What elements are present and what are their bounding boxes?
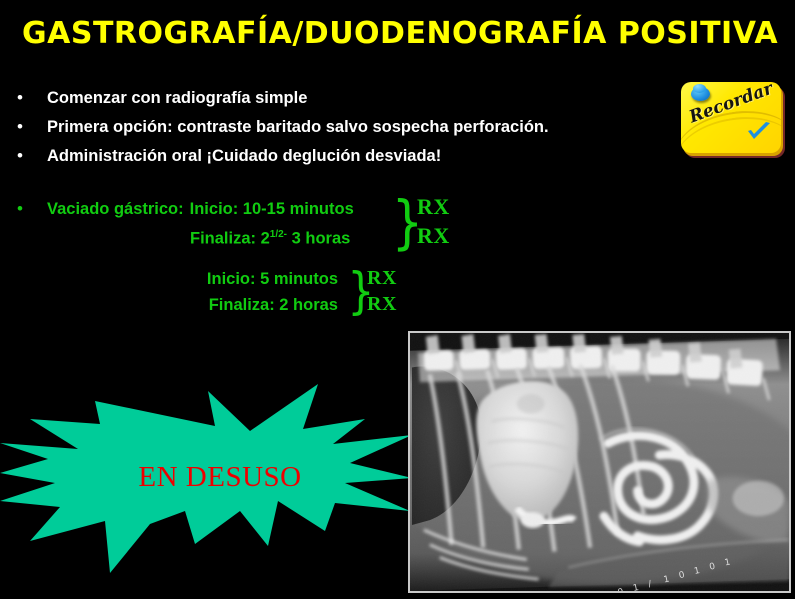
gastric-emptying-block: • Vaciado gástrico: Inicio: 10-15 minuto… [10,196,354,252]
rx-label: RX [367,293,397,316]
pushpin-head-icon [693,84,706,93]
rx-label: RX [367,267,397,290]
intestinal-transit-block: Inicio: 5 minutos Finaliza: 2 horas [190,266,338,318]
starburst-polygon [0,384,412,573]
gastric-emptying-end: Finaliza: 21/2- 3 horas [190,222,354,252]
recordar-sticky-note: Recordar [681,82,785,158]
gastric-emptying-end-suffix: 3 horas [287,230,350,248]
list-item-label: Primera opción: contraste baritado salvo… [47,115,549,139]
bullet-marker-icon: • [10,86,47,110]
gastric-emptying-start: Inicio: 10-15 minutos [190,196,354,222]
intestinal-transit-start: Inicio: 5 minutos [190,266,338,292]
gastric-emptying-line-1: • Vaciado gástrico: Inicio: 10-15 minuto… [10,196,354,222]
intestinal-transit-end: Finaliza: 2 horas [190,292,338,318]
xray-image: 0 0 1 / 1 0 1 0 1 [408,331,791,593]
bullet-marker-icon: • [10,144,47,168]
list-item: • Administración oral ¡Cuidado deglución… [10,144,660,168]
bullet-marker-icon: • [10,197,47,221]
list-item-label: Comenzar con radiografía simple [47,86,307,110]
xray-radiograph: 0 0 1 / 1 0 1 0 1 [410,333,789,591]
page-title: GASTROGRAFÍA/DUODENOGRAFÍA POSITIVA [22,16,778,51]
list-item: • Primera opción: contraste baritado sal… [10,115,660,139]
rx-label: RX [417,194,450,220]
list-item-label: Administración oral ¡Cuidado deglución d… [47,144,441,168]
bullet-marker-icon: • [10,115,47,139]
en-desuso-starburst: EN DESUSO [0,381,412,573]
gastric-emptying-end-prefix: Finaliza: 2 [190,230,270,248]
list-item: • Comenzar con radiografía simple [10,86,660,110]
check-icon [747,122,771,142]
gastric-emptying-end-superscript: 1/2- [270,229,287,240]
starburst-shape [0,381,412,573]
gastric-emptying-label: Vaciado gástrico: [47,196,184,222]
rx-label: RX [417,223,450,249]
bullet-list: • Comenzar con radiografía simple • Prim… [10,86,660,173]
